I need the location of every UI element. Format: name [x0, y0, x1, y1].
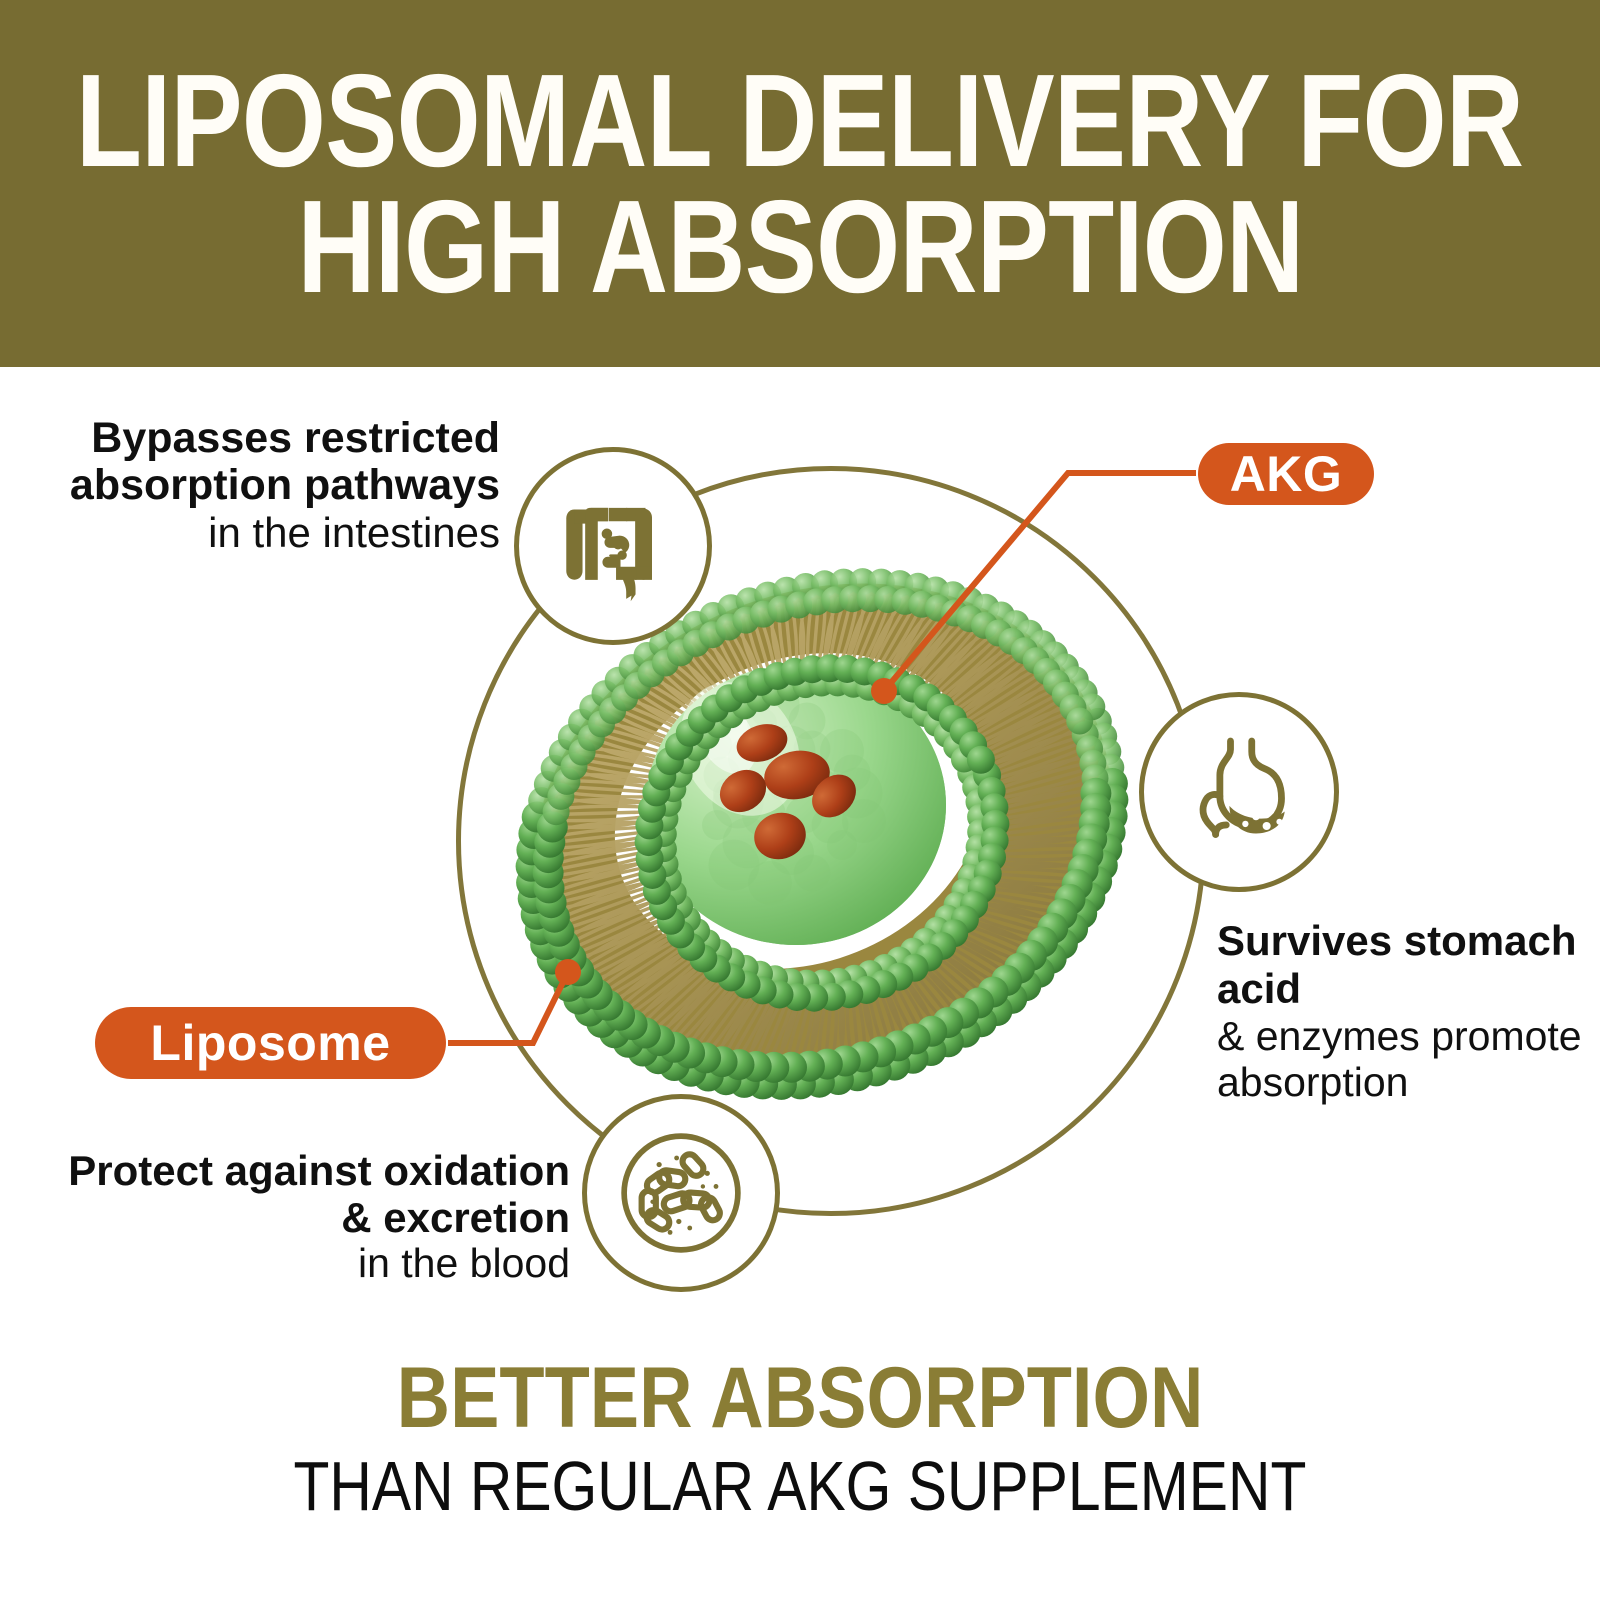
stomach-icon-bubble[interactable] — [1139, 692, 1339, 892]
callout-blood-text: Protect against oxidation & excretion in… — [40, 1147, 570, 1287]
callout-stomach-regular: & enzymes promote absorption — [1217, 1013, 1592, 1106]
intestine-icon-bubble[interactable] — [514, 447, 712, 645]
diagram-stage: Bypasses restricted absorption pathways … — [0, 367, 1600, 1347]
callout-intestines-bold: Bypasses restricted absorption pathways — [20, 415, 500, 510]
footer-subline: THAN REGULAR AKG SUPPLEMENT — [294, 1451, 1307, 1521]
footer: BETTER ABSORPTION THAN REGULAR AKG SUPPL… — [0, 1355, 1600, 1600]
badge-akg[interactable]: AKG — [1198, 443, 1374, 505]
blood-cells-icon — [611, 1123, 751, 1263]
stomach-icon — [1171, 724, 1307, 860]
callout-intestines-regular: in the intestines — [20, 510, 500, 556]
callout-blood-bold: Protect against oxidation & excretion — [40, 1147, 570, 1241]
callout-blood-regular: in the blood — [40, 1241, 570, 1287]
footer-headline: BETTER ABSORPTION — [397, 1355, 1204, 1441]
header-band: LIPOSOMAL DELIVERY FOR HIGH ABSORPTION — [0, 0, 1600, 367]
callout-stomach-bold: Survives stomach acid — [1217, 917, 1592, 1013]
blood-cells-icon-bubble[interactable] — [582, 1094, 780, 1292]
callout-stomach-text: Survives stomach acid & enzymes promote … — [1217, 917, 1592, 1106]
infographic-page: LIPOSOMAL DELIVERY FOR HIGH ABSORPTION — [0, 0, 1600, 1600]
header-title-line-2: HIGH ABSORPTION — [297, 186, 1303, 307]
badge-liposome[interactable]: Liposome — [95, 1007, 446, 1079]
header-title-line-1: LIPOSOMAL DELIVERY FOR — [76, 60, 1523, 181]
callout-intestines-text: Bypasses restricted absorption pathways … — [20, 415, 500, 556]
intestine-icon — [548, 481, 678, 611]
